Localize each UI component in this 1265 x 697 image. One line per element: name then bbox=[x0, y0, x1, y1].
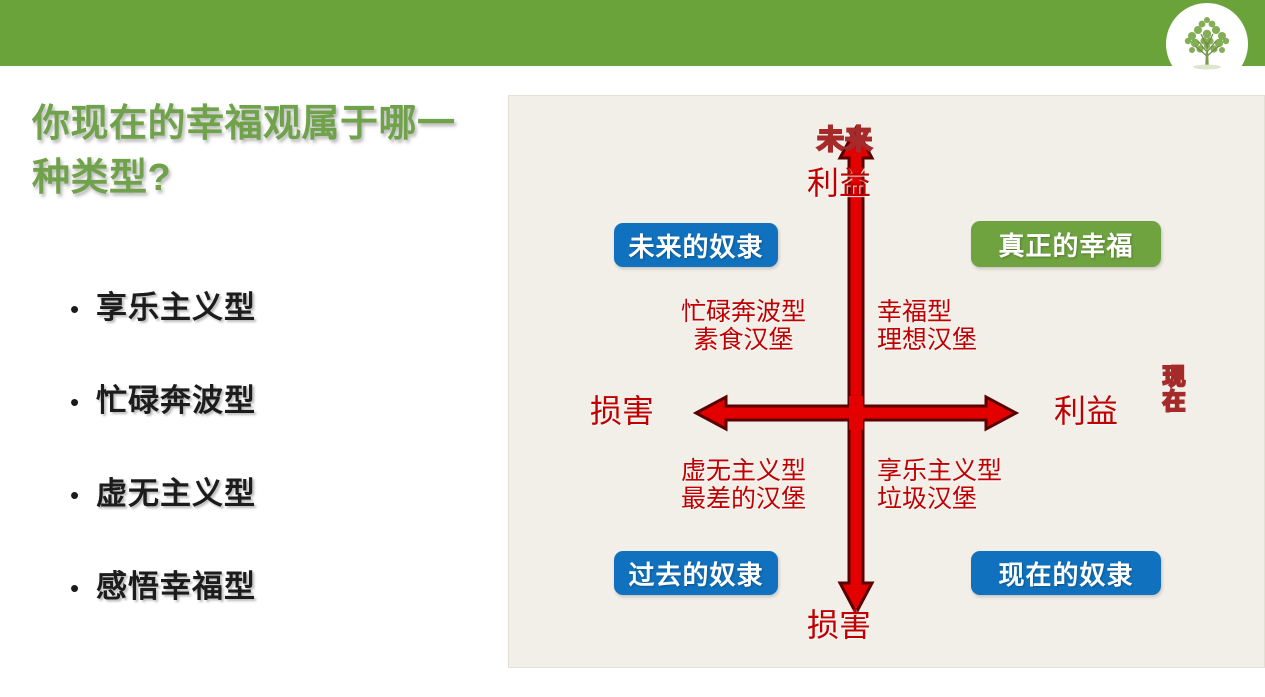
list-item-label: 虚无主义型 bbox=[96, 468, 256, 513]
list-item: • 感悟幸福型 bbox=[70, 561, 490, 654]
quadrant-type-label: 虚无主义型 bbox=[681, 458, 806, 486]
bullet-marker-icon: • bbox=[70, 575, 96, 601]
quadrant-type-label: 享乐主义型 bbox=[877, 458, 1002, 486]
axis-label-left: 损害 bbox=[590, 386, 654, 432]
axis-label-right: 利益 bbox=[1054, 386, 1118, 432]
happiness-type-list: • 享乐主义型 • 忙碌奔波型 • 虚无主义型 • 感悟幸福型 bbox=[70, 282, 490, 654]
page-title: 你现在的幸福观属于哪一种类型? bbox=[32, 98, 492, 206]
tree-logo-badge bbox=[1166, 3, 1248, 85]
quadrant-text-bottom-left: 虚无主义型 最差的汉堡 bbox=[681, 458, 806, 514]
axis-label-top: 利益 bbox=[807, 158, 871, 204]
axis-label-future-outlined: 未来 bbox=[817, 118, 873, 157]
quadrant-text-top-left: 忙碌奔波型 素食汉堡 bbox=[681, 299, 806, 355]
quadrant-type-label: 幸福型 bbox=[877, 299, 977, 327]
axis-label-bottom: 损害 bbox=[807, 600, 871, 646]
quadrant-text-top-right: 幸福型 理想汉堡 bbox=[877, 299, 977, 355]
header-band bbox=[0, 0, 1265, 66]
quadrant-burger-label: 最差的汉堡 bbox=[681, 486, 806, 514]
list-item-label: 享乐主义型 bbox=[96, 282, 256, 327]
bullet-marker-icon: • bbox=[70, 389, 96, 415]
quadrant-burger-label: 理想汉堡 bbox=[877, 327, 977, 355]
badge-present-slave: 现在的奴隶 bbox=[971, 551, 1161, 595]
quadrant-burger-label: 素食汉堡 bbox=[681, 327, 806, 355]
axis-label-now-outlined: 现在 bbox=[1159, 364, 1189, 414]
tree-logo-icon bbox=[1171, 8, 1243, 80]
list-item-label: 忙碌奔波型 bbox=[96, 375, 256, 420]
badge-true-happiness: 真正的幸福 bbox=[971, 221, 1161, 267]
list-item: • 忙碌奔波型 bbox=[70, 375, 490, 468]
list-item: • 享乐主义型 bbox=[70, 282, 490, 375]
quadrant-burger-label: 垃圾汉堡 bbox=[877, 486, 1002, 514]
badge-future-slave: 未来的奴隶 bbox=[614, 223, 778, 267]
quadrant-text-bottom-right: 享乐主义型 垃圾汉堡 bbox=[877, 458, 1002, 514]
quadrant-type-label: 忙碌奔波型 bbox=[681, 299, 806, 327]
list-item-label: 感悟幸福型 bbox=[96, 561, 256, 606]
slide-canvas: 你现在的幸福观属于哪一种类型? • 享乐主义型 • 忙碌奔波型 • 虚无主义型 … bbox=[0, 0, 1265, 697]
axis-crossing bbox=[849, 396, 863, 430]
happiness-quadrant-diagram: 未来 利益 损害 利益 现在 损害 忙碌奔波型 素食汉堡 幸福型 理想汉堡 虚无… bbox=[508, 95, 1265, 668]
bullet-marker-icon: • bbox=[70, 482, 96, 508]
badge-past-slave: 过去的奴隶 bbox=[614, 551, 778, 595]
list-item: • 虚无主义型 bbox=[70, 468, 490, 561]
bullet-marker-icon: • bbox=[70, 296, 96, 322]
